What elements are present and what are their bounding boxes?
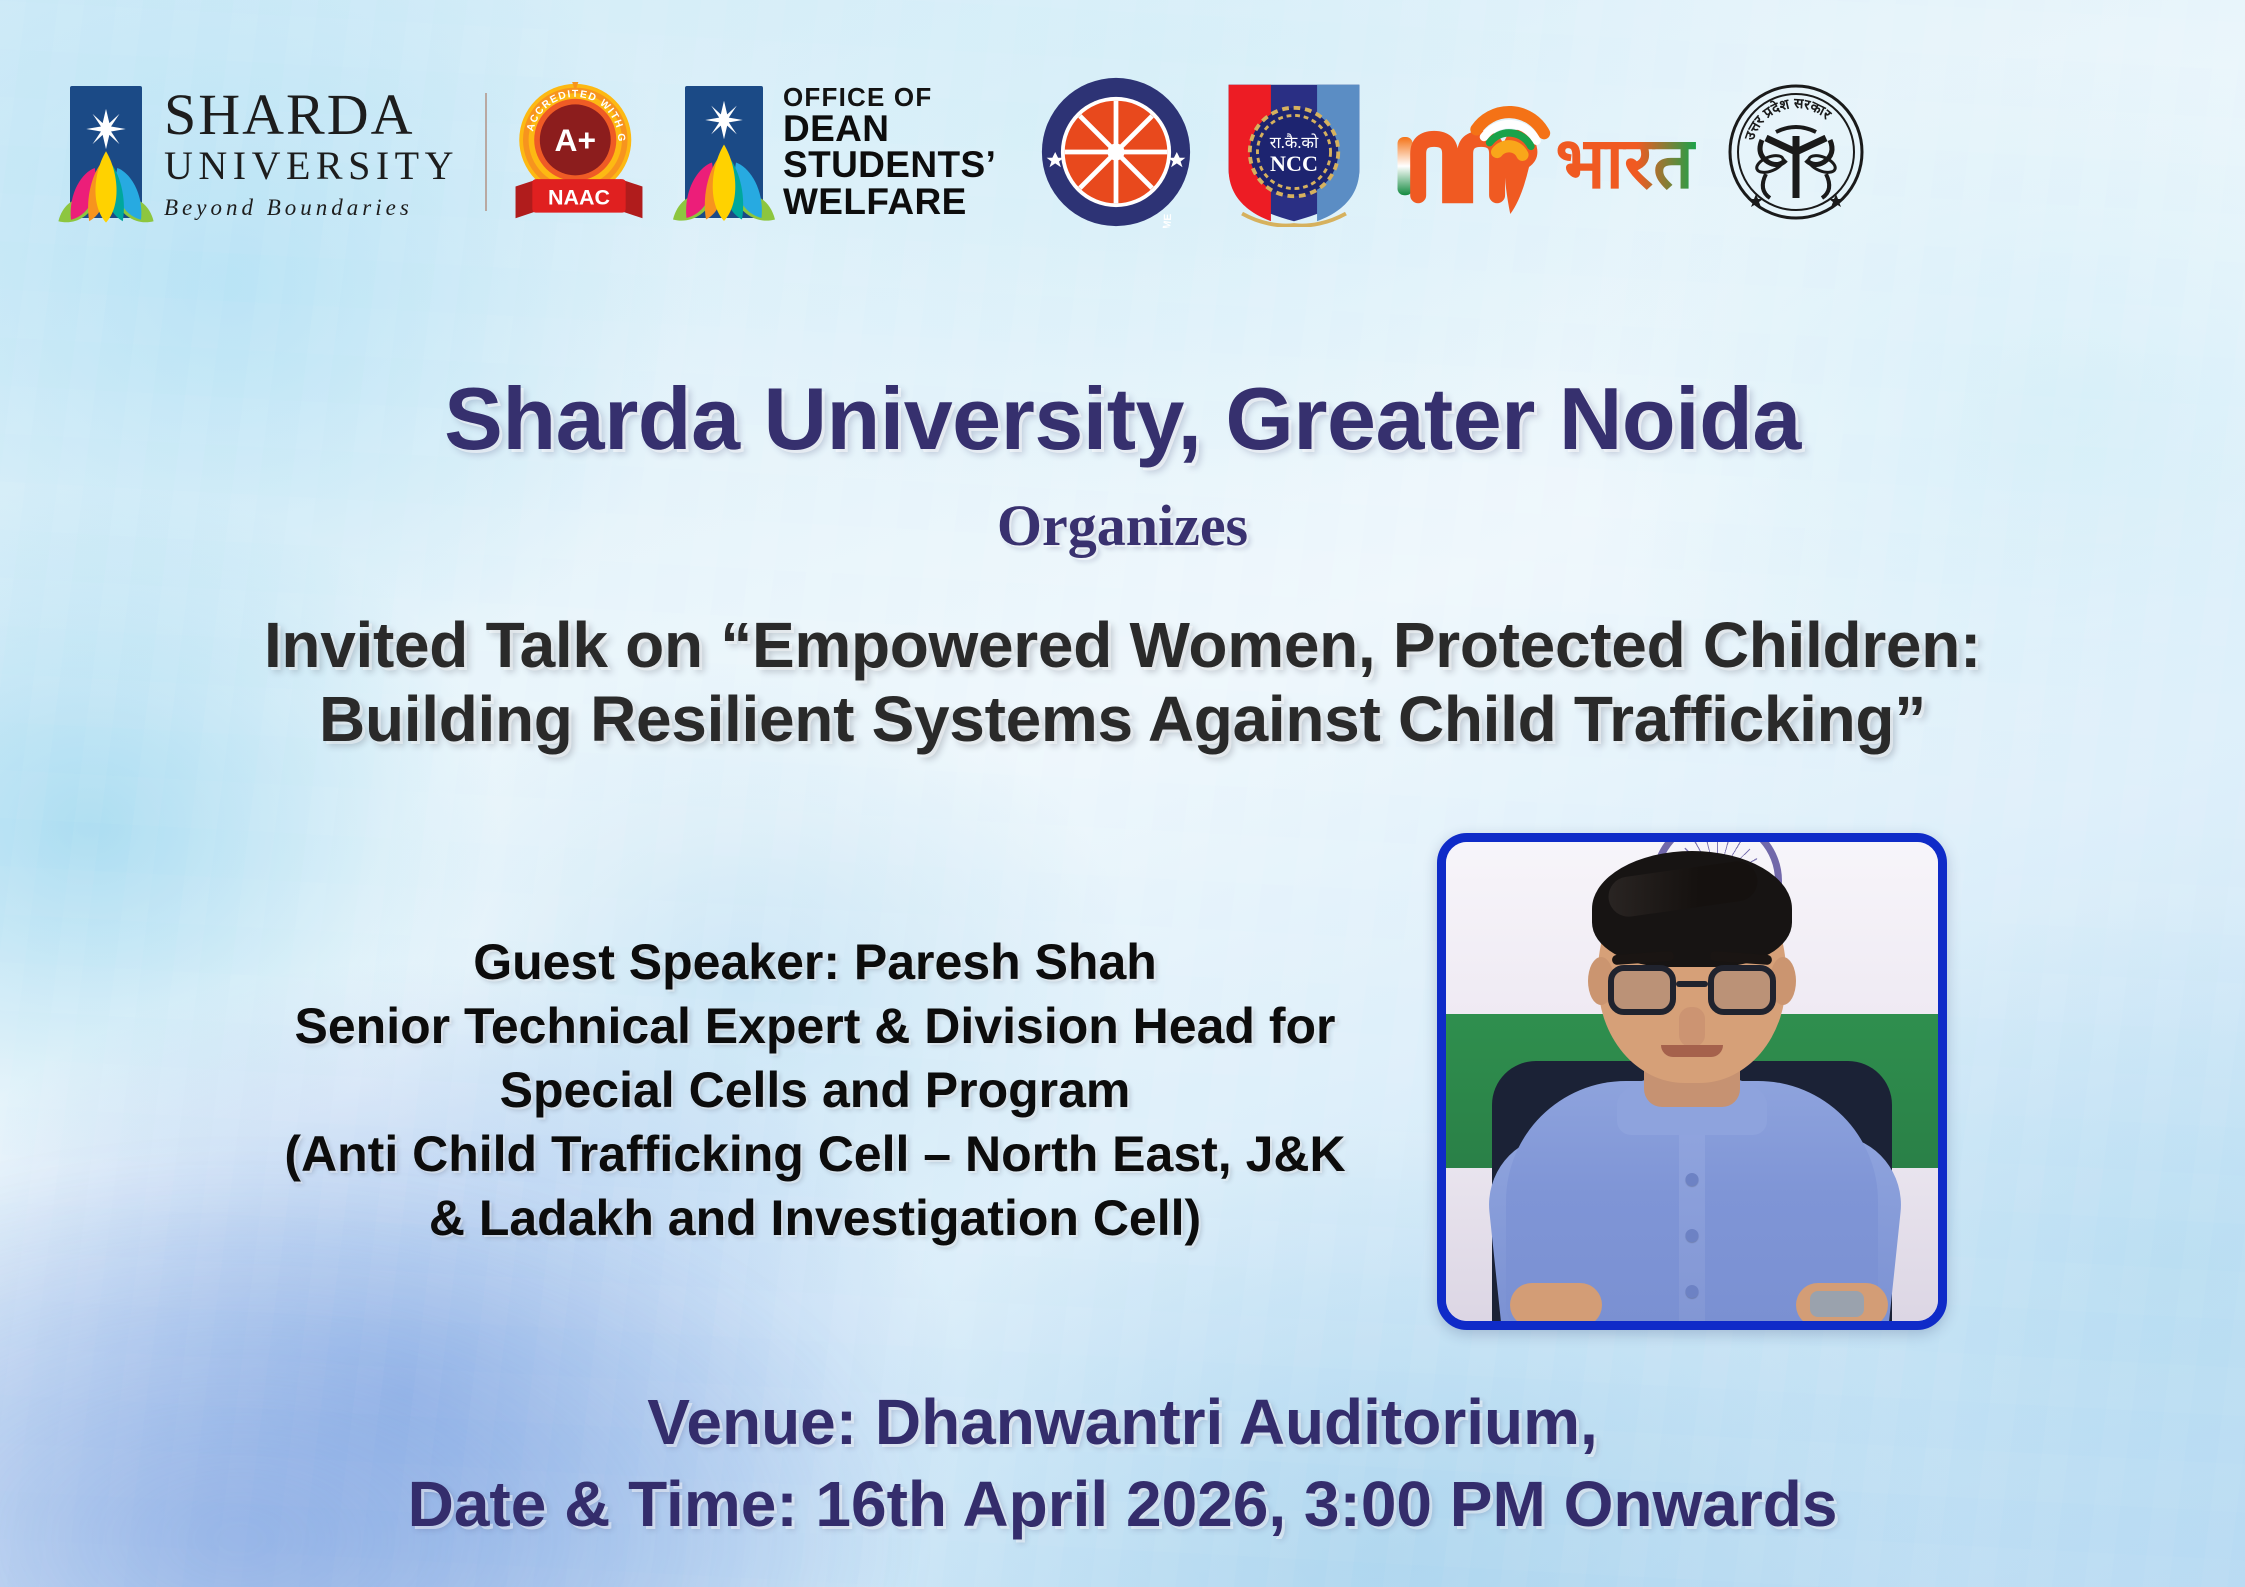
page-title: Sharda University, Greater Noida <box>0 368 2245 470</box>
dsw-line-2: DEAN <box>783 111 996 147</box>
speaker-photo <box>1446 842 1938 1321</box>
ncc-logo: रा.कै.को NCC <box>1216 77 1372 227</box>
shirt-button <box>1686 1229 1699 1242</box>
shirt-button <box>1686 1285 1699 1298</box>
speaker-details: Guest Speaker: Paresh Shah Senior Techni… <box>250 930 1380 1250</box>
hand-left <box>1510 1283 1602 1321</box>
naac-seal-icon: A+ ACCREDITED WITH GRADE NAAC <box>513 82 645 222</box>
speaker-line-2: Senior Technical Expert & Division Head … <box>250 994 1380 1058</box>
venue-line: Venue: Dhanwantri Auditorium, <box>0 1382 2245 1464</box>
star-icon <box>85 108 127 150</box>
lotus-icon <box>664 140 784 230</box>
sharda-name-line2: UNIVERSITY <box>164 146 459 186</box>
talk-title-line-1: Invited Talk on “Empowered Women, Protec… <box>70 608 2175 682</box>
sharda-shield-icon <box>70 86 142 218</box>
lens-right <box>1708 965 1776 1015</box>
event-poster: SHARDA UNIVERSITY Beyond Boundaries <box>0 0 2245 1587</box>
sharda-wordmark: SHARDA UNIVERSITY Beyond Boundaries <box>164 86 459 219</box>
speaker-line-4: (Anti Child Trafficking Cell – North Eas… <box>250 1122 1380 1186</box>
organizes-label: Organizes <box>0 492 2245 559</box>
ncc-hindi-text: रा.कै.को <box>1270 133 1319 152</box>
my-bharat-logo: भारत <box>1390 89 1700 215</box>
star-icon <box>704 100 744 140</box>
my-bharat-hindi-text: भारत <box>1556 124 1697 204</box>
speaker-line-3: Special Cells and Program <box>250 1058 1380 1122</box>
naac-grade-text: A+ <box>555 122 596 158</box>
speaker-line-5: & Ladakh and Investigation Cell) <box>250 1186 1380 1250</box>
talk-title-line-2: Building Resilient Systems Against Child… <box>70 682 2175 756</box>
sharda-university-logo: SHARDA UNIVERSITY Beyond Boundaries <box>70 86 459 219</box>
naac-ribbon-text: NAAC <box>548 185 610 209</box>
ncc-abbreviation-text: NCC <box>1270 151 1318 176</box>
naac-ribbon: NAAC <box>516 179 643 218</box>
lotus-icon <box>50 146 162 232</box>
dsw-line-1: OFFICE OF <box>783 85 996 110</box>
shirt-button <box>1686 1173 1699 1186</box>
date-time-line: Date & Time: 16th April 2026, 3:00 PM On… <box>0 1464 2245 1546</box>
mouth <box>1661 1045 1723 1057</box>
speaker-line-1: Guest Speaker: Paresh Shah <box>250 930 1380 994</box>
nss-logo: राष्ट्रीय सेवा योजना NATIONAL SERVICE SC… <box>1040 76 1192 228</box>
dsw-line-3: STUDENTS’ <box>783 147 996 183</box>
dsw-shield-icon <box>685 86 763 218</box>
dsw-wordmark: OFFICE OF DEAN STUDENTS’ WELFARE <box>783 85 996 220</box>
hair <box>1592 851 1792 967</box>
naac-badge: A+ ACCREDITED WITH GRADE NAAC <box>513 82 645 222</box>
sharda-tagline: Beyond Boundaries <box>164 196 459 219</box>
dean-students-welfare-logo: OFFICE OF DEAN STUDENTS’ WELFARE <box>685 85 996 220</box>
glasses-bridge <box>1676 981 1708 987</box>
talk-title: Invited Talk on “Empowered Women, Protec… <box>0 608 2245 756</box>
speaker-photo-frame <box>1437 833 1947 1330</box>
uttar-pradesh-government-emblem: उत्तर प्रदेश सरकार <box>1726 82 1866 222</box>
venue-and-date: Venue: Dhanwantri Auditorium, Date & Tim… <box>0 1382 2245 1546</box>
lens-left <box>1608 965 1676 1015</box>
partner-logo-strip: SHARDA UNIVERSITY Beyond Boundaries <box>70 72 2185 232</box>
nose <box>1679 1007 1705 1047</box>
dsw-line-4: WELFARE <box>783 184 996 220</box>
sharda-name-line1: SHARDA <box>164 86 459 144</box>
logo-divider <box>485 93 487 211</box>
speaker-head <box>1598 861 1786 1083</box>
wristwatch <box>1810 1291 1864 1317</box>
